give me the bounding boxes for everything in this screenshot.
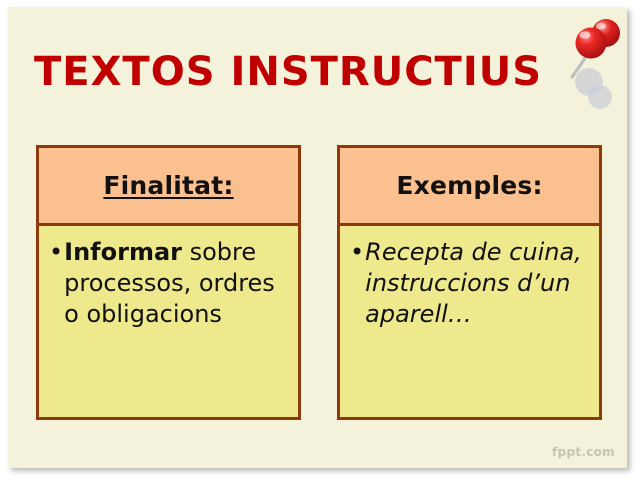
column-header-label: Exemples:: [396, 171, 542, 200]
screenshot-root: TEXTOS INSTRUCTIUS: [0, 0, 638, 479]
table-column-finalitat: Finalitat: • Informar sobre processos, o…: [36, 145, 301, 420]
bullet-icon: •: [49, 237, 63, 268]
watermark: fppt.com: [552, 445, 615, 459]
list-item-text: Informar sobre processos, ordres o oblig…: [64, 237, 290, 330]
list-item: • Informar sobre processos, ordres o obl…: [49, 237, 290, 330]
table-column-exemples: Exemples: • Recepta de cuina, instruccio…: [337, 145, 602, 420]
presentation-slide: TEXTOS INSTRUCTIUS: [8, 7, 627, 468]
list-item: • Recepta de cuina, instruccions d’un ap…: [350, 237, 591, 330]
page-title: TEXTOS INSTRUCTIUS: [8, 49, 568, 95]
list-item-lead: Informar: [64, 238, 182, 266]
column-header-exemples: Exemples:: [340, 148, 599, 226]
column-body-exemples: • Recepta de cuina, instruccions d’un ap…: [340, 226, 599, 330]
bullet-icon: •: [350, 237, 364, 268]
list-item-text: Recepta de cuina, instruccions d’un apar…: [365, 237, 591, 330]
column-header-finalitat: Finalitat:: [39, 148, 298, 226]
list-item-rest: Recepta de cuina, instruccions d’un apar…: [365, 238, 582, 328]
column-body-finalitat: • Informar sobre processos, ordres o obl…: [39, 226, 298, 330]
column-header-label: Finalitat:: [103, 171, 233, 200]
pushpin-icon: [555, 15, 627, 120]
